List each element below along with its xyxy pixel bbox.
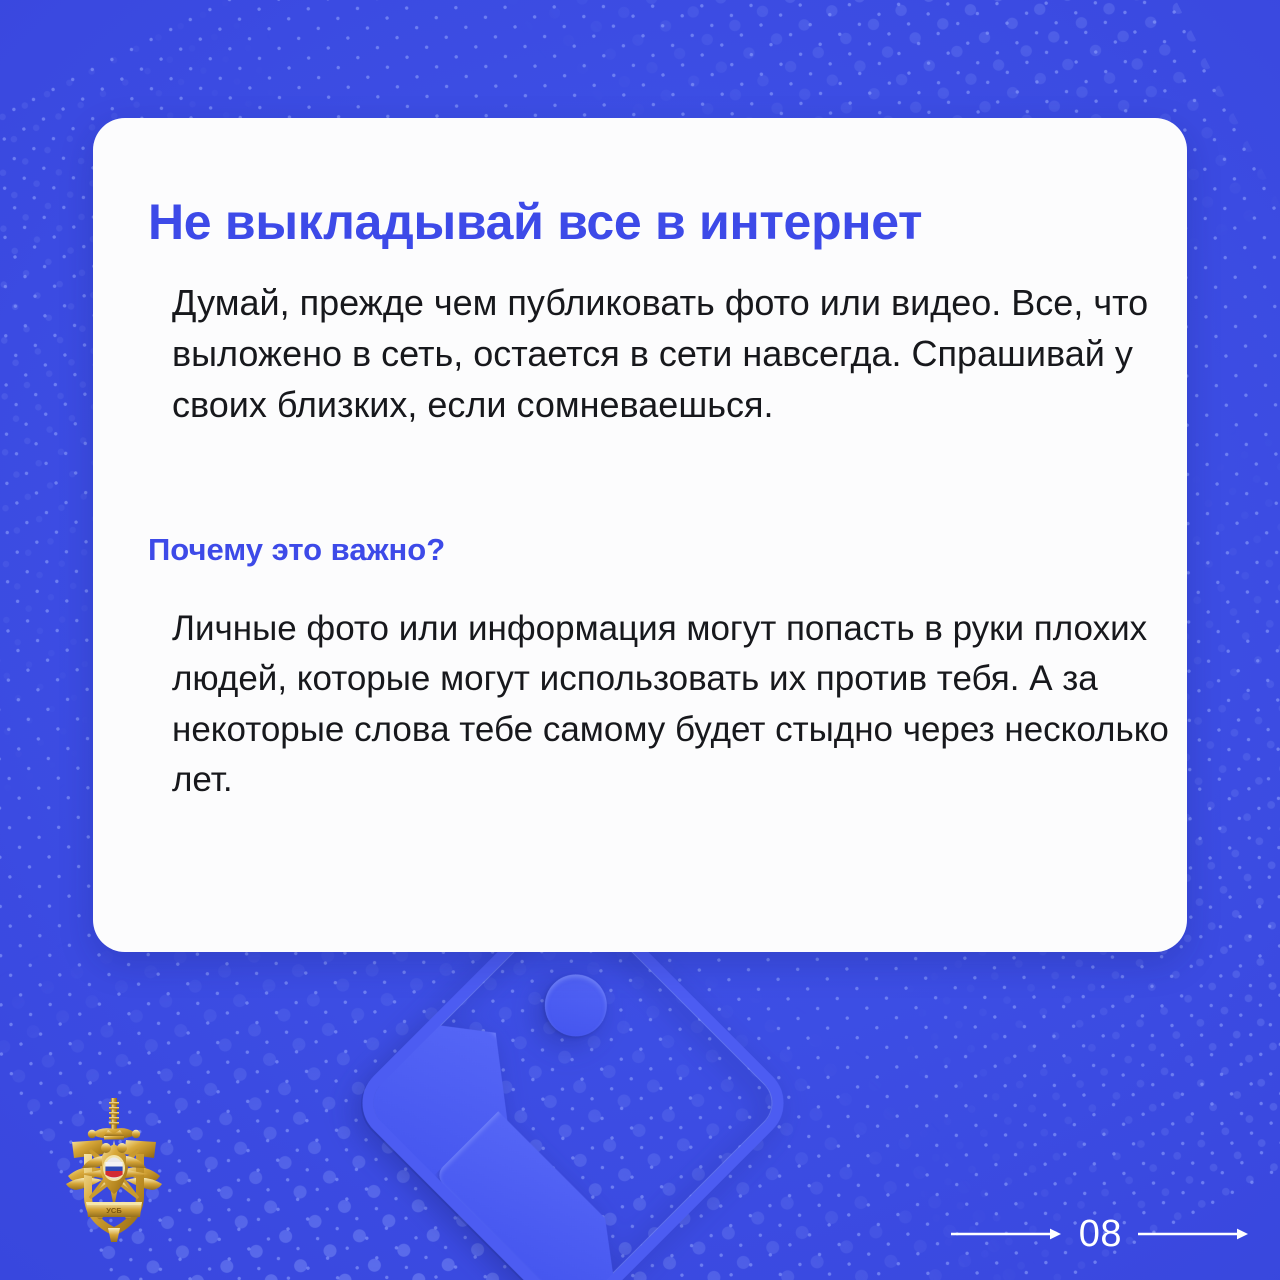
section-subtitle: Почему это важно? (148, 532, 1187, 568)
arrow-right-icon (1136, 1226, 1252, 1242)
arrow-right-icon (949, 1226, 1065, 1242)
content-card: Не выкладывай все в интернет Думай, преж… (93, 118, 1187, 952)
intro-paragraph: Думай, прежде чем публиковать фото или в… (172, 277, 1172, 430)
fsb-style-emblem: УСБ (62, 1096, 166, 1242)
page-title: Не выкладывай все в интернет (148, 196, 1187, 249)
explanation-paragraph: Личные фото или информация могут попасть… (172, 604, 1182, 806)
page-number: 08 (1079, 1215, 1122, 1253)
page-indicator: 08 (949, 1210, 1252, 1258)
emblem-banner-text: УСБ (106, 1206, 122, 1215)
